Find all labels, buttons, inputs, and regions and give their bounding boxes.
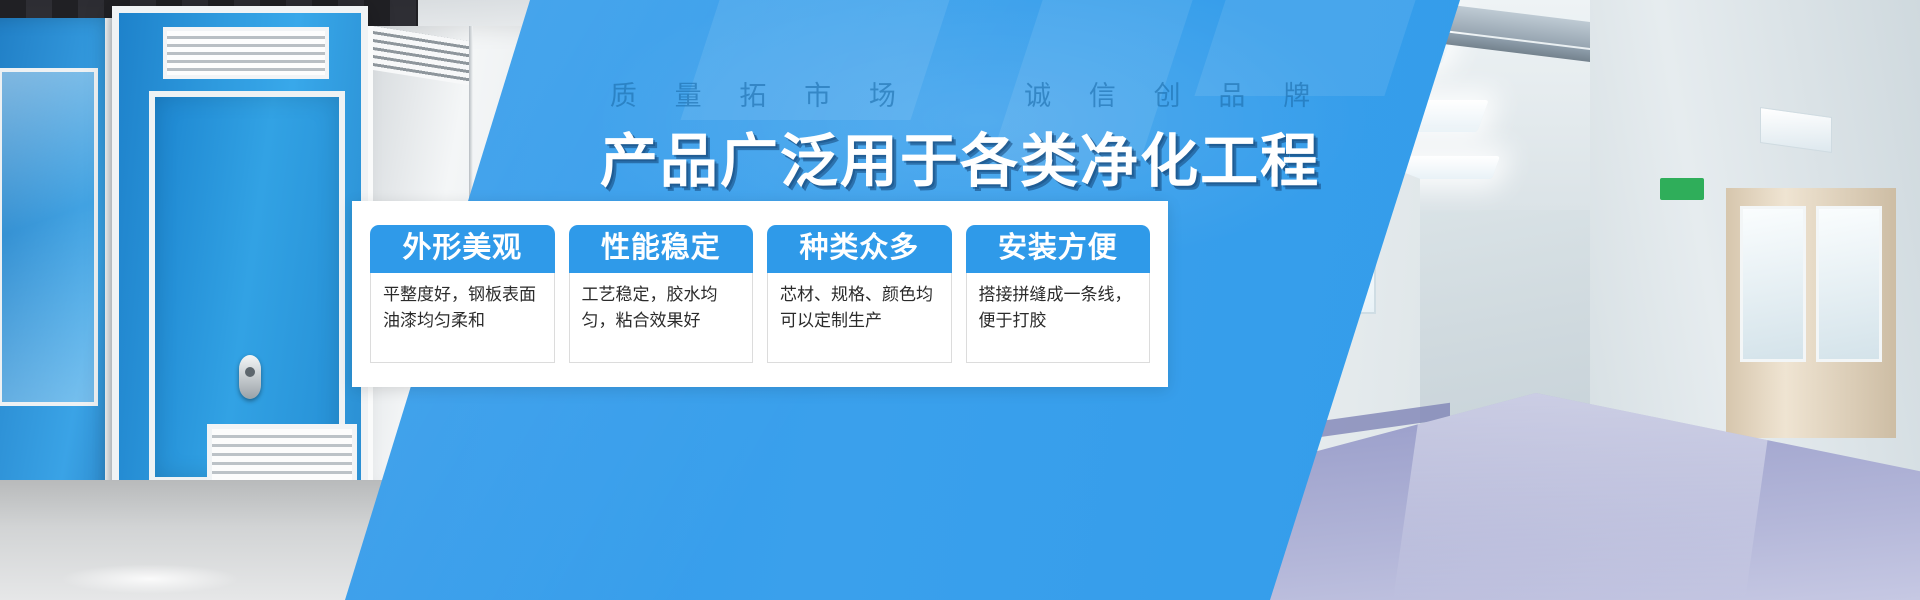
door-glass-pane (1816, 206, 1882, 362)
banner-subtitle: 质 量 拓 市 场 诚 信 创 品 牌 (0, 74, 1920, 113)
feature-panel: 外形美观 平整度好，钢板表面油漆均匀柔和 性能稳定 工艺稳定，胶水均匀，粘合效果… (352, 201, 1168, 387)
feature-card-title: 外形美观 (370, 225, 555, 273)
cabin-top-vent (163, 27, 329, 79)
corridor-double-door (1726, 188, 1896, 438)
feature-card-title: 种类众多 (767, 225, 952, 273)
feature-card-title: 性能稳定 (569, 225, 754, 273)
feature-card-title: 安装方便 (966, 225, 1151, 273)
feature-card-description: 平整度好，钢板表面油漆均匀柔和 (370, 273, 555, 363)
cabin-door-handle (239, 355, 261, 399)
promo-banner: 质 量 拓 市 场 诚 信 创 品 牌 产品广泛用于各类净化工程 外形美观 平整… (0, 0, 1920, 600)
door-glass-pane (1740, 206, 1806, 362)
feature-card[interactable]: 种类众多 芯材、规格、颜色均可以定制生产 (767, 225, 952, 363)
banner-headline: 产品广泛用于各类净化工程 (0, 114, 1920, 198)
feature-card-list: 外形美观 平整度好，钢板表面油漆均匀柔和 性能稳定 工艺稳定，胶水均匀，粘合效果… (352, 201, 1168, 387)
feature-card[interactable]: 性能稳定 工艺稳定，胶水均匀，粘合效果好 (569, 225, 754, 363)
feature-card-description: 工艺稳定，胶水均匀，粘合效果好 (569, 273, 754, 363)
feature-card-description: 搭接拼缝成一条线，便于打胶 (966, 273, 1151, 363)
feature-card[interactable]: 外形美观 平整度好，钢板表面油漆均匀柔和 (370, 225, 555, 363)
feature-card[interactable]: 安装方便 搭接拼缝成一条线，便于打胶 (966, 225, 1151, 363)
feature-card-description: 芯材、规格、颜色均可以定制生产 (767, 273, 952, 363)
